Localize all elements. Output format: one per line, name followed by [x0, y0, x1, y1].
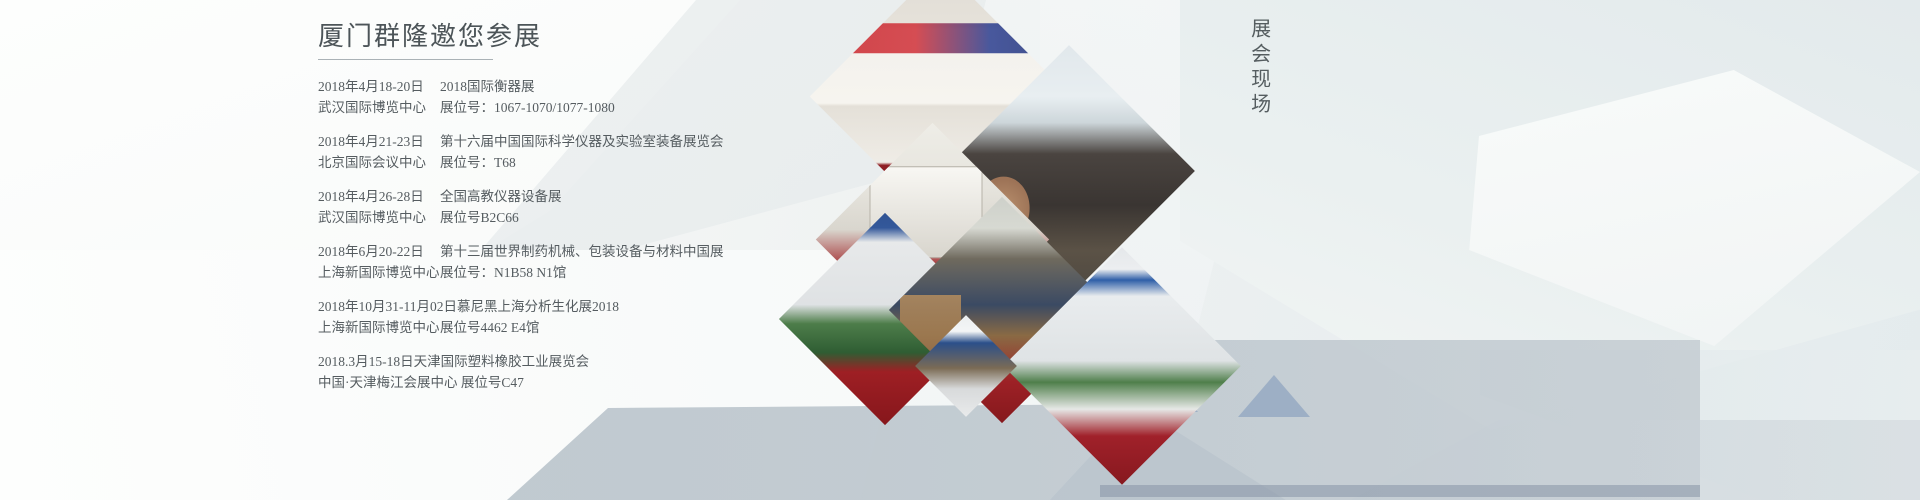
event-booth: 展位号：1067-1070/1077-1080 [440, 97, 615, 118]
event-venue: 北京国际会议中心 [318, 152, 440, 173]
decorative-triangle-small [1238, 375, 1310, 417]
event-venue: 中国·天津梅江会展中心 [318, 372, 458, 393]
exhibition-invitation-banner: 厦门群隆邀您参展 2018年4月18-20日 2018国际衡器展 武汉国际博览中… [0, 0, 1920, 500]
vertical-section-label: 展会现场 [1245, 18, 1271, 118]
event-booth: 展位号：T68 [440, 152, 516, 173]
event-booth: 展位号4462 E4馆 [440, 317, 539, 338]
event-booth: 展位号：N1B58 N1馆 [440, 262, 566, 283]
event-name: 慕尼黑上海分析生化展2018 [457, 296, 619, 317]
photo-collage [858, 0, 1218, 500]
event-date: 2018年4月18-20日 [318, 76, 440, 97]
event-venue: 上海新国际博览中心 [318, 317, 440, 338]
event-venue: 武汉国际博览中心 [318, 97, 440, 118]
event-venue: 上海新国际博览中心 [318, 262, 440, 283]
event-name: 第十三届世界制药机械、包装设备与材料中国展 [440, 241, 724, 262]
event-venue: 武汉国际博览中心 [318, 207, 440, 228]
event-booth: 展位号C47 [461, 372, 524, 393]
event-date: 2018年10月31-11月02日 [318, 296, 457, 317]
event-date: 2018年4月26-28日 [318, 186, 440, 207]
event-name: 2018国际衡器展 [440, 76, 535, 97]
title-underline [318, 59, 493, 60]
event-date: 2018年6月20-22日 [318, 241, 440, 262]
event-name: 全国高教仪器设备展 [440, 186, 562, 207]
event-date: 2018.3月15-18日天津国际塑料橡胶工业展览会 [318, 354, 589, 369]
event-booth: 展位号B2C66 [440, 207, 519, 228]
event-date: 2018年4月21-23日 [318, 131, 440, 152]
event-name: 第十六届中国国际科学仪器及实验室装备展览会 [440, 131, 724, 152]
